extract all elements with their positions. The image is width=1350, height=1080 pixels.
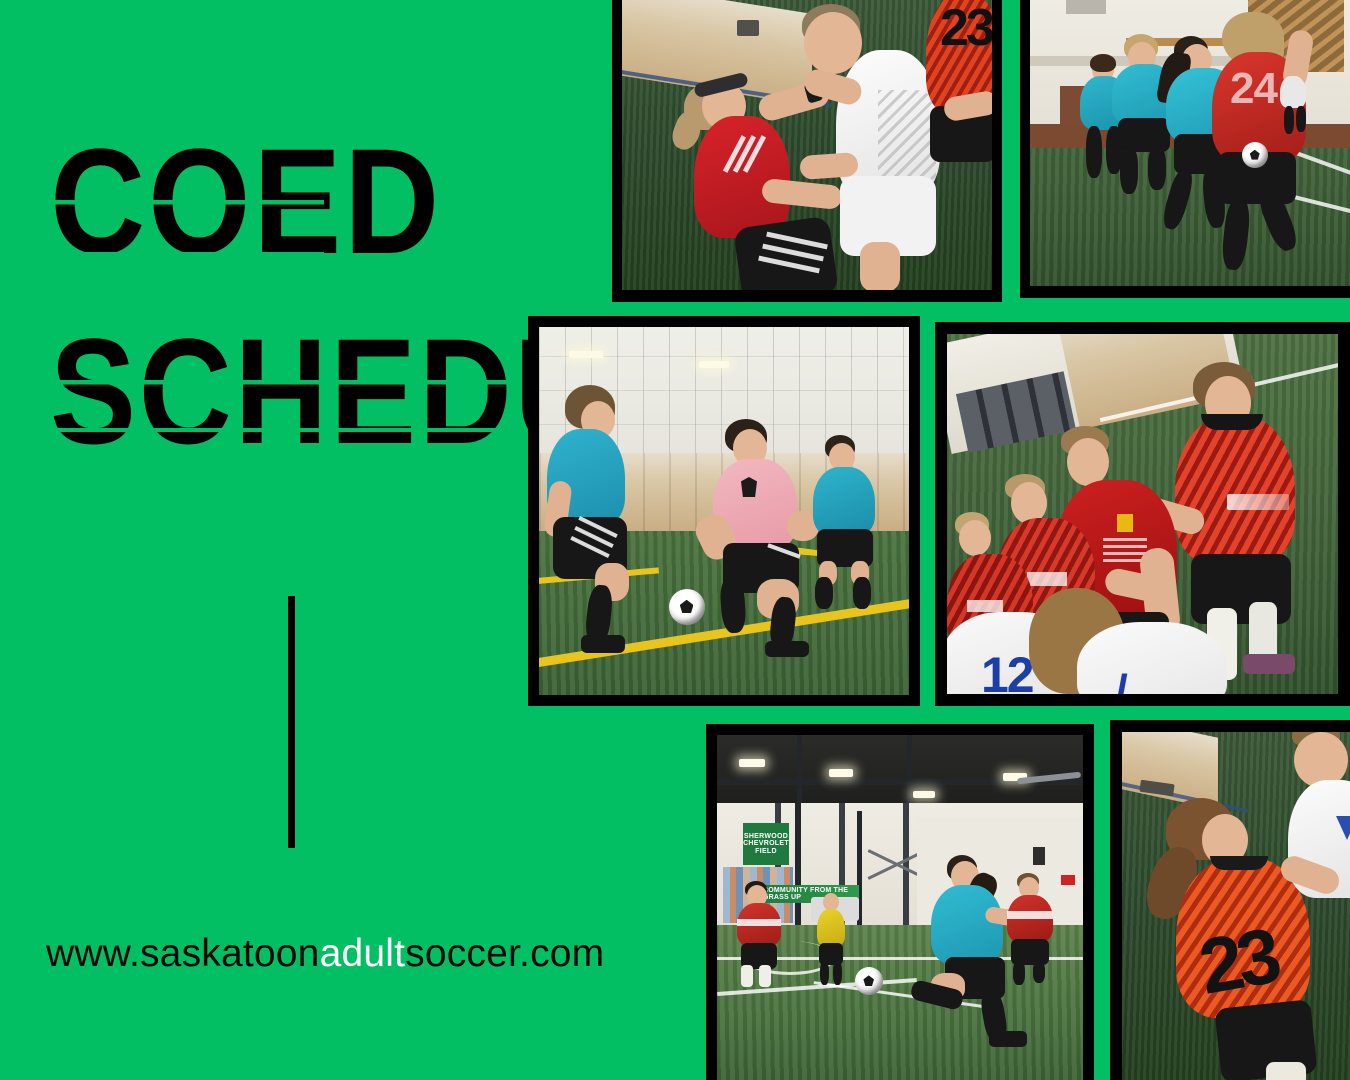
- jersey-number: 12: [981, 646, 1033, 694]
- photo-teal-vs-red-action: 24: [1030, 0, 1350, 286]
- exit-sign: [1061, 875, 1075, 885]
- photo-frame-red-team-handshake-line: 12 /: [935, 322, 1350, 706]
- leg: [1160, 166, 1196, 231]
- poster-canvas: COED SCHEDULE www.saskatoonadultsoccer.c…: [0, 0, 1350, 1080]
- soccer-ball: [1242, 142, 1268, 168]
- wall-beam: [795, 803, 801, 933]
- url-prefix: www.saskatoon: [46, 932, 320, 975]
- photo-orange-23-handshake: 23: [1122, 732, 1350, 1080]
- torso-teal: [813, 467, 875, 537]
- referee: [813, 893, 849, 985]
- ceiling-light: [913, 791, 935, 798]
- leg: [860, 242, 900, 290]
- sign-line-3: FIELD: [755, 848, 777, 855]
- sock: [853, 577, 871, 609]
- sign-line-2: CHEVROLET: [743, 840, 789, 847]
- jersey-number: 23: [1193, 910, 1282, 1013]
- jersey-band: [737, 919, 781, 926]
- boot: [581, 635, 625, 653]
- background-player-red-23: 23: [922, 0, 992, 164]
- sock-white: [1266, 1062, 1306, 1080]
- leg: [1120, 146, 1138, 194]
- soccer-ball: [669, 589, 705, 625]
- sponsor-text: [1227, 494, 1289, 510]
- head: [959, 520, 991, 556]
- sock-white: [741, 965, 753, 987]
- leg: [1033, 961, 1045, 983]
- background-player-white: [1280, 76, 1320, 136]
- collar: [1210, 856, 1268, 870]
- photo-red-team-handshake-line: 12 /: [947, 334, 1338, 694]
- title-line-schedule: SCHEDULE: [50, 322, 497, 460]
- sign-line-1: SHERWOOD: [744, 833, 788, 840]
- torso-referee-yellow: [817, 909, 845, 947]
- leg: [1284, 106, 1294, 134]
- ceiling-light: [739, 759, 765, 767]
- boot: [765, 641, 809, 657]
- player-white-back-2: /: [1077, 622, 1247, 694]
- website-url[interactable]: www.saskatoonadultsoccer.com: [46, 932, 604, 976]
- ceiling-light: [699, 361, 729, 368]
- field-name-sign: SHERWOOD CHEVROLET FIELD: [743, 823, 789, 865]
- page-title: COED SCHEDULE: [50, 132, 570, 460]
- leg: [833, 961, 842, 985]
- ceiling-light: [569, 351, 603, 358]
- player-white-partner: [1274, 732, 1350, 922]
- torso-red: [1007, 895, 1053, 943]
- torso-red: [694, 116, 790, 238]
- ceiling-light: [829, 769, 853, 777]
- leg: [1220, 197, 1251, 271]
- torso-white: [1077, 622, 1227, 694]
- jersey-band: [1007, 911, 1053, 919]
- torso-teal: [931, 885, 1003, 965]
- boot-pink: [1243, 654, 1295, 674]
- photo-teal-striker-wide: SHERWOOD CHEVROLET FIELD COMMUNITY FROM …: [717, 735, 1083, 1080]
- leg: [1296, 106, 1306, 132]
- photo-frame-teal-striker-wide: SHERWOOD CHEVROLET FIELD COMMUNITY FROM …: [706, 724, 1094, 1080]
- tripod: [737, 20, 759, 36]
- jersey-number: /: [1115, 664, 1128, 694]
- vertical-divider: [288, 596, 295, 848]
- sock: [815, 577, 833, 609]
- photo-pink-jersey-dribble: [539, 327, 909, 695]
- jersey-number: 24: [1230, 64, 1277, 114]
- photo-frame-teal-vs-red-action: 24: [1020, 0, 1350, 298]
- url-suffix: soccer.com: [405, 932, 604, 975]
- collar: [1201, 414, 1263, 430]
- photo-frame-handshake-red-white: 23: [612, 0, 1002, 302]
- leg: [1086, 126, 1102, 178]
- player-teal-background: [807, 435, 897, 605]
- photo-handshake-red-white: 23: [622, 0, 992, 290]
- jersey-number: 23: [940, 0, 992, 58]
- leg: [1013, 961, 1025, 985]
- roof-beam: [907, 735, 912, 805]
- sponsor-patch: [1117, 514, 1133, 532]
- player-teal-defender: [547, 385, 657, 645]
- soccer-ball: [855, 967, 883, 995]
- torso-white: [1280, 76, 1306, 108]
- player-red-right: [1005, 873, 1063, 985]
- boot: [989, 1031, 1027, 1047]
- wall-panel: [1066, 0, 1106, 14]
- title-line-coed: COED: [50, 132, 508, 270]
- sock-white-2: [759, 965, 771, 987]
- photo-frame-pink-jersey-dribble: [528, 316, 920, 706]
- player-red-left: [733, 881, 793, 991]
- photo-frame-orange-23-handshake: 23: [1110, 720, 1350, 1080]
- url-highlight: adult: [320, 932, 406, 975]
- player-red-24: 24: [1208, 12, 1338, 272]
- leg: [820, 961, 829, 985]
